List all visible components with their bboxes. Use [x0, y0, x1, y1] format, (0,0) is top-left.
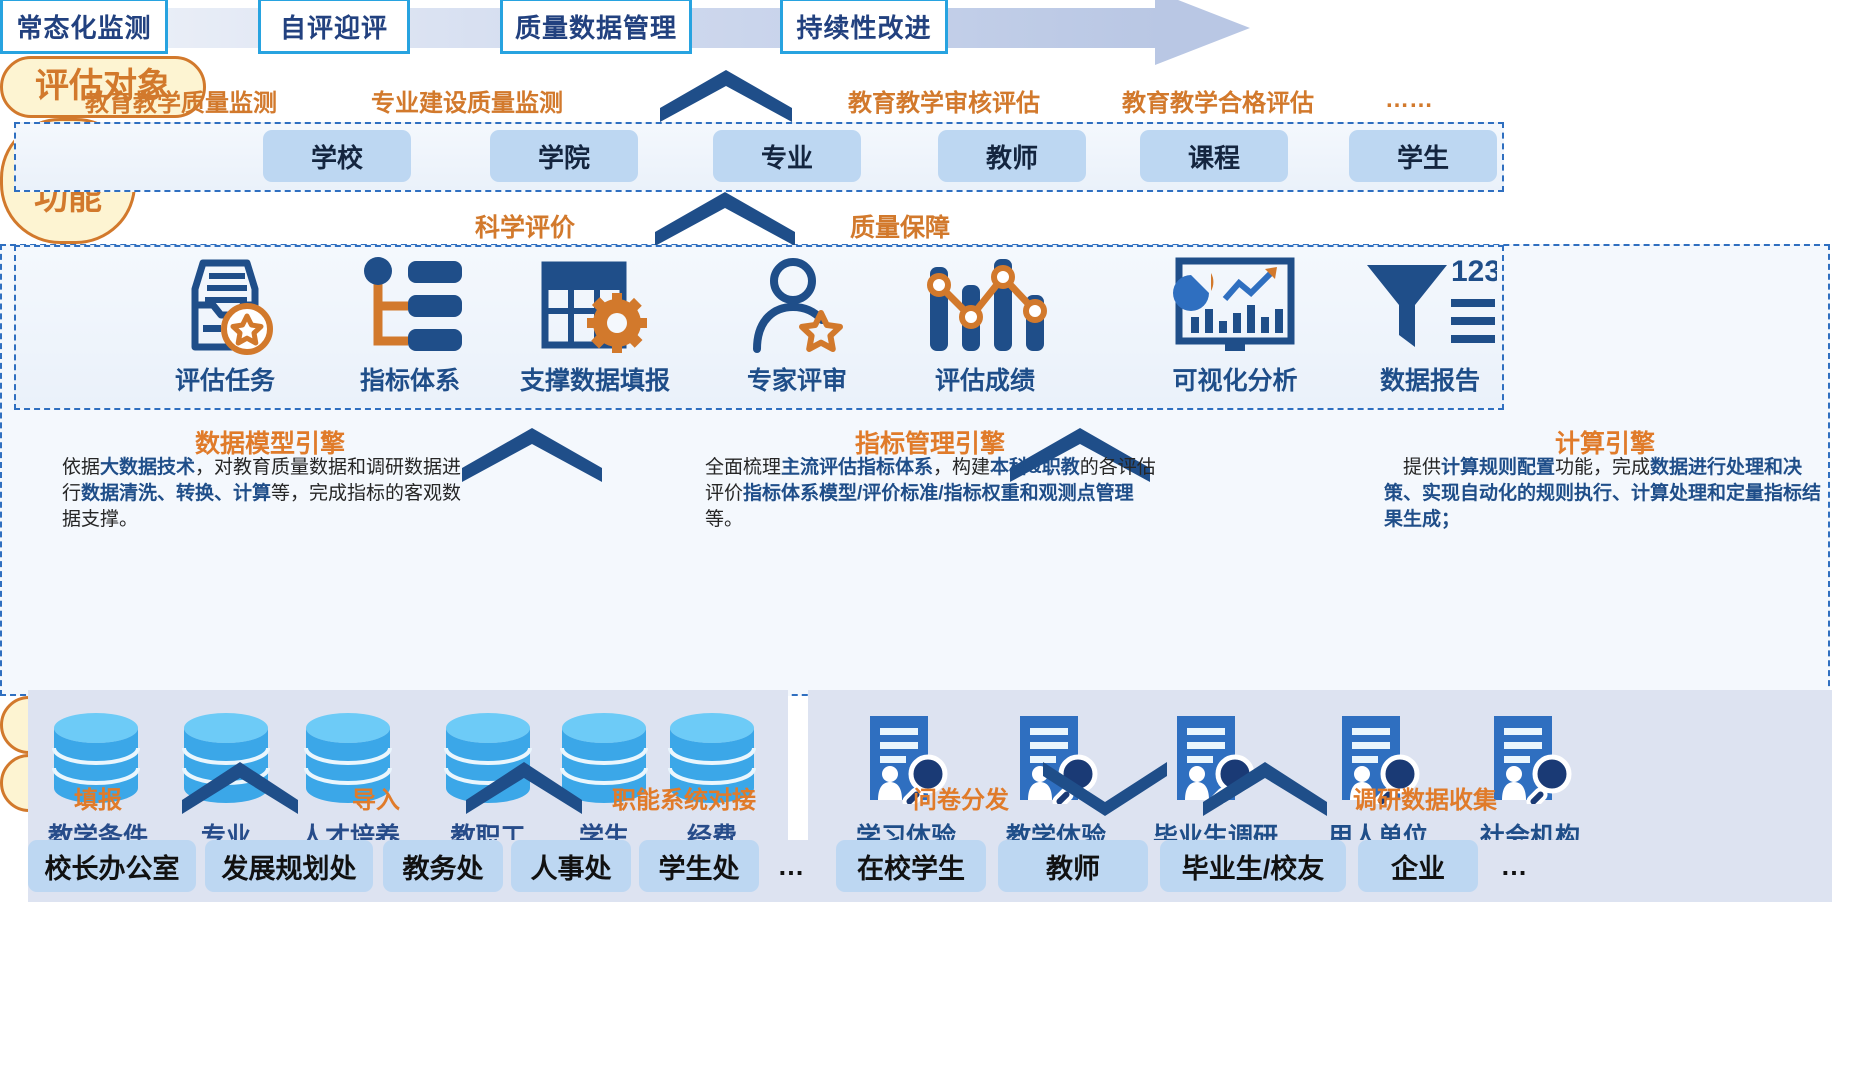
department-student-affairs[interactable]: 学生处 [639, 840, 759, 892]
chevron-up-data-to-core [462, 428, 602, 482]
core-function-label: 可视化分析 [1150, 361, 1320, 397]
respondent-graduates-alumni[interactable]: 毕业生/校友 [1160, 840, 1346, 892]
flow-label-system-docking: 职能系统对接 [612, 780, 756, 815]
engine-desc-compute: 提供计算规则配置功能，完成数据进行处理和决策、实现自动化的规则执行、计算处理和定… [1384, 455, 1834, 534]
process-flow-arrow: 常态化监测 自评迎评 质量数据管理 持续性改进 [0, 0, 1250, 56]
evaluation-object-major[interactable]: 专业 [713, 130, 861, 182]
core-function-visual-analysis[interactable]: 可视化分析 [1150, 255, 1320, 397]
top-tag-1: 专业建设质量监测 [371, 83, 563, 118]
process-stage-2[interactable]: 质量数据管理 [500, 0, 692, 54]
core-function-expert-review[interactable]: 专家评审 [712, 255, 882, 397]
core-function-data-report[interactable]: 123 数据报告 [1345, 255, 1515, 397]
flow-label-fill-report: 填报 [74, 780, 122, 815]
flow-label-import: 导入 [352, 780, 400, 815]
core-function-label: 支撑数据填报 [510, 361, 680, 397]
chevron-down-questionnaire [1043, 762, 1167, 816]
chevron-up-fill-report [182, 762, 298, 814]
engine-desc-indicator-mgmt: 全面梳理主流评估指标体系，构建本科&职教的各评估评价指标体系模型/评价标准/指标… [705, 455, 1157, 534]
respondent-teachers[interactable]: 教师 [998, 840, 1148, 892]
core-function-indicator-system[interactable]: 指标体系 [325, 255, 495, 397]
department-academic-affairs[interactable]: 教务处 [383, 840, 503, 892]
table-gear-icon [510, 255, 680, 355]
chevron-up-import [466, 762, 582, 814]
chevron-up-core-to-objects [655, 192, 795, 246]
top-tag-0: 教育教学质量监测 [85, 83, 277, 118]
respondent-enterprises[interactable]: 企业 [1358, 840, 1478, 892]
top-tag-3: 教育教学合格评估 [1122, 83, 1314, 118]
evaluation-object-school[interactable]: 学校 [263, 130, 411, 182]
process-stage-1[interactable]: 自评迎评 [258, 0, 410, 54]
core-function-label: 指标体系 [325, 361, 495, 397]
relation-label-quality-assurance: 质量保障 [850, 208, 950, 244]
department-hr[interactable]: 人事处 [511, 840, 631, 892]
task-star-icon [140, 255, 310, 355]
top-tag-4: …… [1385, 86, 1433, 114]
core-function-label: 评估任务 [140, 361, 310, 397]
flow-label-questionnaire-distribution: 问卷分发 [913, 780, 1009, 815]
evaluation-object-teacher[interactable]: 教师 [938, 130, 1086, 182]
flow-label-survey-collection: 调研数据收集 [1353, 780, 1497, 815]
department-presidents-office[interactable]: 校长办公室 [28, 840, 196, 892]
process-stage-3[interactable]: 持续性改进 [780, 0, 948, 54]
core-function-label: 评估成绩 [900, 361, 1070, 397]
evaluation-object-college[interactable]: 学院 [490, 130, 638, 182]
chevron-up-survey-collection [1203, 762, 1327, 816]
dashboard-icon [1150, 255, 1320, 355]
top-tag-2: 教育教学审核评估 [848, 83, 1040, 118]
chevron-up-process-to-objects [660, 70, 792, 122]
respondent-more[interactable]: … [1490, 840, 1538, 892]
evaluation-object-course[interactable]: 课程 [1140, 130, 1288, 182]
department-planning[interactable]: 发展规划处 [205, 840, 373, 892]
engine-desc-data-model: 依据大数据技术，对教育质量数据和调研数据进行数据清洗、转换、计算等，完成指标的客… [62, 455, 474, 534]
process-stage-0[interactable]: 常态化监测 [0, 0, 168, 54]
indicator-tree-icon [325, 255, 495, 355]
core-function-task[interactable]: 评估任务 [140, 255, 310, 397]
score-chart-icon [900, 255, 1070, 355]
respondent-enrolled-students[interactable]: 在校学生 [836, 840, 986, 892]
expert-review-icon [712, 255, 882, 355]
funnel-report-icon: 123 [1345, 255, 1515, 355]
core-function-score[interactable]: 评估成绩 [900, 255, 1070, 397]
evaluation-object-student[interactable]: 学生 [1349, 130, 1497, 182]
core-function-data-reporting[interactable]: 支撑数据填报 [510, 255, 680, 397]
svg-text:123: 123 [1451, 255, 1497, 288]
relation-label-scientific-evaluation: 科学评价 [475, 208, 575, 244]
core-function-label: 数据报告 [1345, 361, 1515, 397]
core-function-label: 专家评审 [712, 361, 882, 397]
process-arrow-head [1155, 0, 1250, 65]
